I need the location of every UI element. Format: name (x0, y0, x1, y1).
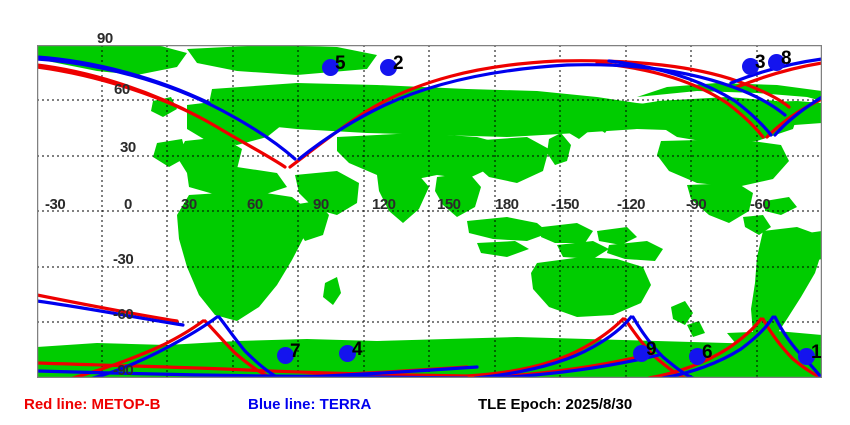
ground-track-map: 90 60 30 -30 -60 -90 -30 0 30 60 90 120 … (0, 0, 850, 425)
lon-label-60: 60 (247, 196, 263, 213)
legend-tle-epoch: TLE Epoch: 2025/8/30 (478, 396, 632, 413)
marker-label: 3 (755, 52, 766, 74)
lon-label-150: 150 (437, 196, 461, 213)
lon-label-180: 180 (495, 196, 519, 213)
lon-label-neg120: -120 (617, 196, 645, 213)
marker-label: 1 (811, 342, 822, 364)
lat-label-neg60: -60 (113, 306, 133, 323)
lon-label-neg150: -150 (551, 196, 579, 213)
lon-label-neg30: -30 (45, 196, 65, 213)
marker-label: 6 (702, 342, 713, 364)
lon-label-90: 90 (313, 196, 329, 213)
lat-label-neg90: -90 (113, 362, 133, 379)
marker-label: 7 (290, 341, 301, 363)
lat-label-30: 30 (120, 139, 136, 156)
marker-label: 9 (646, 339, 657, 361)
lon-label-120: 120 (372, 196, 396, 213)
lat-label-neg30: -30 (113, 251, 133, 268)
lat-label-60: 60 (114, 81, 130, 98)
legend-red-line: Red line: METOP-B (24, 396, 160, 413)
lat-label-90: 90 (97, 30, 113, 47)
lon-label-neg90: -90 (686, 196, 706, 213)
lon-label-30: 30 (181, 196, 197, 213)
legend-blue-line: Blue line: TERRA (248, 396, 371, 413)
lon-label-0: 0 (124, 196, 132, 213)
marker-label: 2 (393, 53, 404, 75)
marker-label: 5 (335, 53, 346, 75)
lon-label-neg60: -60 (750, 196, 770, 213)
marker-label: 4 (352, 339, 363, 361)
marker-label: 8 (781, 48, 792, 70)
